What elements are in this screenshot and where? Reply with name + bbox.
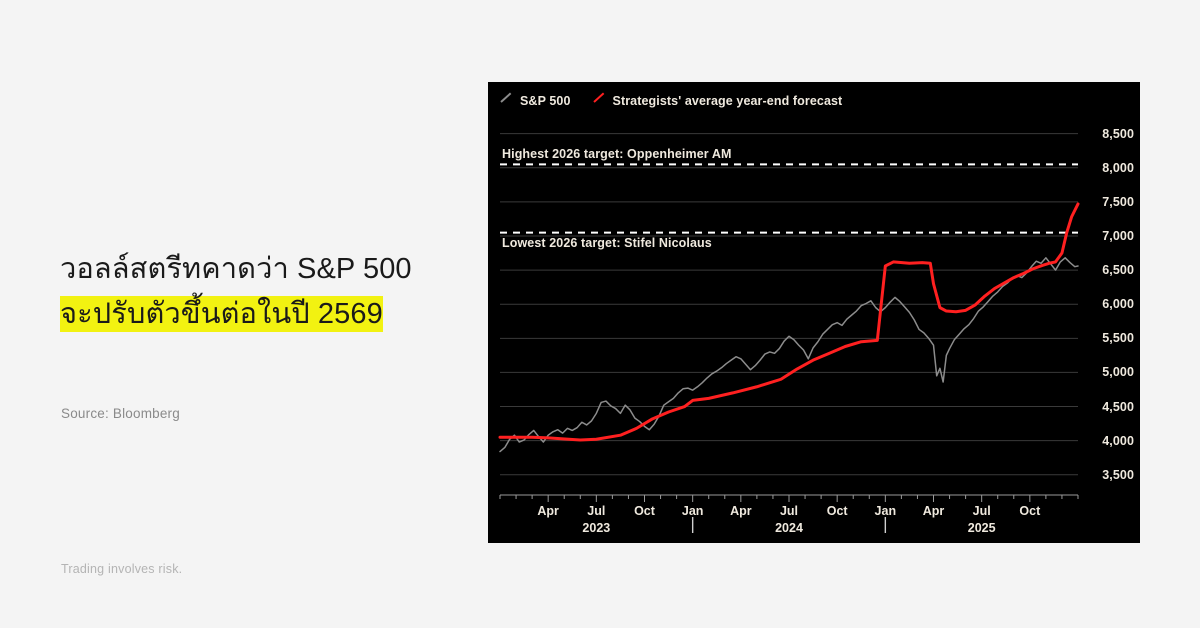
source-attribution: Source: Bloomberg xyxy=(61,406,180,421)
highest-target-label: Highest 2026 target: Oppenheimer AM xyxy=(502,147,731,161)
x-axis-tick: Apr xyxy=(537,504,559,518)
x-axis-year: 2023 xyxy=(582,521,610,535)
y-axis-tick: 4,000 xyxy=(1102,434,1134,448)
x-axis-tick: Apr xyxy=(923,504,945,518)
x-axis-year: 2025 xyxy=(968,521,996,535)
chart-legend: S&P 500 Strategists' average year-end fo… xyxy=(500,90,864,112)
x-axis-tick: Jan xyxy=(875,504,897,518)
line-swatch-icon xyxy=(500,95,513,108)
y-axis-tick: 6,500 xyxy=(1102,263,1134,277)
legend-item-forecast: Strategists' average year-end forecast xyxy=(593,94,843,108)
y-axis-tick: 4,500 xyxy=(1102,400,1134,414)
y-axis-tick: 6,000 xyxy=(1102,297,1134,311)
headline-highlight: จะปรับตัวขึ้นต่อในปี 2569 xyxy=(60,296,383,332)
y-axis-tick: 5,500 xyxy=(1102,331,1134,345)
y-axis-tick: 7,000 xyxy=(1102,229,1134,243)
y-axis-tick: 5,000 xyxy=(1102,365,1134,379)
x-axis-tick: Oct xyxy=(1019,504,1040,518)
page-title: วอลล์สตรีทคาดว่า S&P 500 จะปรับตัวขึ้นต่… xyxy=(60,247,420,337)
headline-prefix: วอลล์สตรีทคาดว่า S&P 500 xyxy=(60,253,412,285)
x-axis-tick: Jul xyxy=(587,504,605,518)
legend-label-sp500: S&P 500 xyxy=(520,94,571,108)
x-axis-tick: Oct xyxy=(827,504,848,518)
y-axis-tick: 8,500 xyxy=(1102,127,1134,141)
x-axis-tick: Oct xyxy=(634,504,655,518)
chart-panel: S&P 500 Strategists' average year-end fo… xyxy=(488,82,1140,543)
x-axis-tick: Jan xyxy=(682,504,704,518)
plot-area: 8,5008,0007,5007,0006,5006,0005,5005,000… xyxy=(488,112,1140,543)
x-axis-year: 2024 xyxy=(775,521,803,535)
legend-label-forecast: Strategists' average year-end forecast xyxy=(613,94,843,108)
line-swatch-icon xyxy=(593,95,606,108)
risk-disclaimer: Trading involves risk. xyxy=(61,562,182,576)
x-axis-tick: Jul xyxy=(973,504,991,518)
y-axis-tick: 7,500 xyxy=(1102,195,1134,209)
plot-svg xyxy=(488,112,1140,543)
y-axis-tick: 3,500 xyxy=(1102,468,1134,482)
legend-item-sp500: S&P 500 xyxy=(500,94,571,108)
editorial-panel: วอลล์สตรีทคาดว่า S&P 500 จะปรับตัวขึ้นต่… xyxy=(0,0,470,628)
x-axis-tick: Jul xyxy=(780,504,798,518)
y-axis-tick: 8,000 xyxy=(1102,161,1134,175)
x-axis-tick: Apr xyxy=(730,504,752,518)
lowest-target-label: Lowest 2026 target: Stifel Nicolaus xyxy=(502,236,712,250)
